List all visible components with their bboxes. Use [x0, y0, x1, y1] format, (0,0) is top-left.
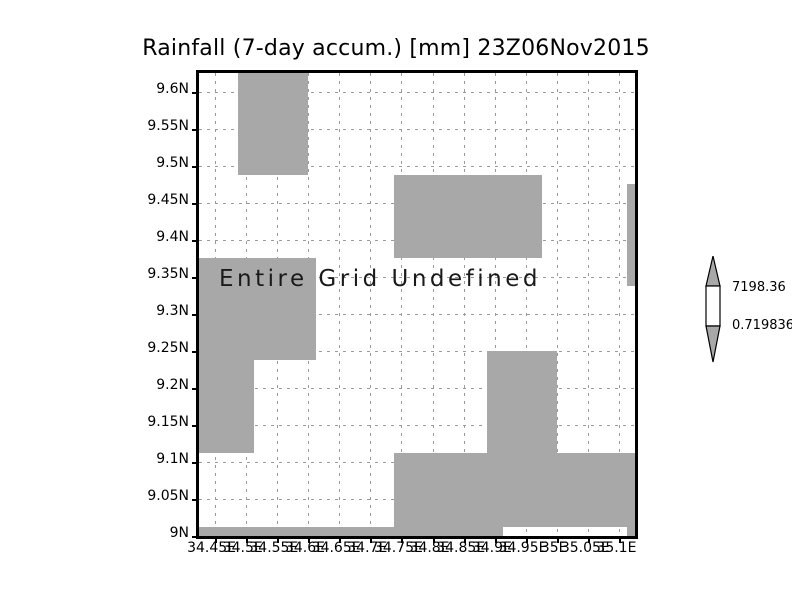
- undefined-cell-block: [199, 527, 394, 536]
- undefined-cell-block: [238, 73, 308, 175]
- gridline-horizontal: [199, 425, 635, 426]
- undefined-cell-block: [627, 184, 635, 286]
- colorbar-low-label: 0.719836: [732, 318, 792, 333]
- x-axis-tick: [370, 536, 372, 543]
- colorbar-high-label: 7198.36: [732, 280, 786, 295]
- x-axis-tick-label: 34.45E: [187, 540, 236, 556]
- y-axis-tick-label: 9.05N: [147, 488, 189, 504]
- y-axis-tick-label: 9.2N: [156, 377, 189, 393]
- y-axis-tick-label: 9.45N: [147, 192, 189, 208]
- y-axis-tick: [192, 314, 199, 316]
- x-axis-tick-label: 34.75E: [374, 540, 423, 556]
- plot-canvas: Entire Grid Undefined: [199, 73, 635, 536]
- y-axis-tick: [192, 425, 199, 427]
- undefined-cell-block: [394, 175, 542, 258]
- plot-frame: Entire Grid Undefined: [196, 70, 638, 539]
- undefined-cell-block: [199, 360, 254, 453]
- undefined-grid-message: Entire Grid Undefined: [219, 266, 541, 292]
- y-axis-tick: [192, 277, 199, 279]
- x-axis-tick-label: 34.6E: [285, 540, 325, 556]
- x-axis-tick-label: 34.95E: [499, 540, 548, 556]
- x-axis-tick: [433, 536, 435, 543]
- x-axis-tick-label: 35E: [541, 540, 568, 556]
- y-axis-tick-label: 9.15N: [147, 414, 189, 430]
- x-axis-tick: [215, 536, 217, 543]
- x-axis-tick: [464, 536, 466, 543]
- x-axis-labels: 34.45E34.5E34.55E34.6E34.65E34.7E34.75E3…: [196, 540, 632, 560]
- x-axis-tick: [495, 536, 497, 543]
- y-axis-tick: [192, 351, 199, 353]
- colorbar-shape: [698, 256, 732, 364]
- x-axis-tick: [588, 536, 590, 543]
- x-axis-tick: [308, 536, 310, 543]
- undefined-cell-block: [394, 527, 503, 536]
- x-axis-tick: [339, 536, 341, 543]
- y-axis-tick-label: 9.5N: [156, 155, 189, 171]
- y-axis-tick: [192, 536, 199, 538]
- rainfall-colorbar: 7198.36 0.719836: [698, 256, 732, 364]
- grads-plot-window: Rainfall (7-day accum.) [mm] 23Z06Nov201…: [0, 0, 792, 612]
- y-axis-tick-label: 9.3N: [156, 303, 189, 319]
- x-axis-tick-label: 35.1E: [596, 540, 636, 556]
- x-axis-tick-label: 34.5E: [223, 540, 263, 556]
- y-axis-tick: [192, 499, 199, 501]
- x-axis-tick-label: 34.85E: [436, 540, 485, 556]
- y-axis-tick: [192, 388, 199, 390]
- y-axis-tick-label: 9.25N: [147, 340, 189, 356]
- x-axis-tick: [557, 536, 559, 543]
- x-axis-tick-label: 34.7E: [347, 540, 387, 556]
- y-axis-tick-label: 9.4N: [156, 229, 189, 245]
- x-axis-tick-label: 34.9E: [472, 540, 512, 556]
- undefined-cell-block: [487, 351, 557, 453]
- y-axis-tick-label: 9.6N: [156, 81, 189, 97]
- y-axis-tick-label: 9.55N: [147, 118, 189, 134]
- y-axis-tick: [192, 240, 199, 242]
- undefined-cell-block: [394, 453, 635, 527]
- x-axis-tick: [401, 536, 403, 543]
- gridline-vertical: [339, 73, 340, 536]
- x-axis-tick-label: 34.65E: [312, 540, 361, 556]
- y-axis-tick: [192, 166, 199, 168]
- x-axis-tick: [246, 536, 248, 543]
- y-axis-tick: [192, 203, 199, 205]
- y-axis-tick-label: 9N: [170, 525, 189, 541]
- y-axis-tick: [192, 92, 199, 94]
- y-axis-tick: [192, 462, 199, 464]
- gridline-vertical: [370, 73, 371, 536]
- undefined-cell-block: [627, 453, 635, 536]
- x-axis-tick-label: 34.55E: [249, 540, 298, 556]
- x-axis-tick-label: 34.8E: [410, 540, 450, 556]
- x-axis-tick: [526, 536, 528, 543]
- x-axis-tick-label: 35.05E: [561, 540, 610, 556]
- gridline-horizontal: [199, 388, 635, 389]
- x-axis-tick: [277, 536, 279, 543]
- page-title: Rainfall (7-day accum.) [mm] 23Z06Nov201…: [0, 36, 792, 61]
- y-axis-tick-label: 9.1N: [156, 451, 189, 467]
- y-axis-tick-label: 9.35N: [147, 266, 189, 282]
- y-axis-tick: [192, 129, 199, 131]
- x-axis-tick: [619, 536, 621, 543]
